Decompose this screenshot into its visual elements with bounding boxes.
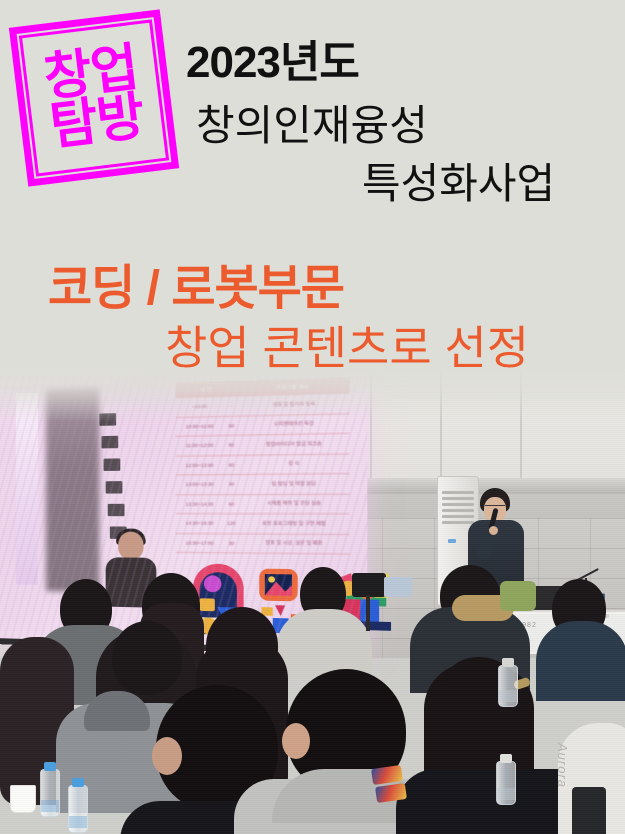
water-bottle [496,761,516,805]
chair-back [572,787,606,834]
header-text-block: 창업 탐방 2023년도 창의인재융성 특성화사업 코딩 / 로봇부문 창업 콘… [0,0,625,380]
audience-head [112,621,182,695]
heading-year: 2023년도 [186,26,359,90]
heading-project: 특성화사업 [362,150,555,211]
audience-shoulders [276,609,372,679]
subheading-category: 코딩 / 로봇부문 [48,248,344,318]
bottle-label [499,690,517,702]
event-photo: 시 간 프로그램 내용 ~10:00 - 개회 및 참가자 등록 10:00~1… [0,368,625,834]
audience-group: Aurora [0,573,625,834]
bottle-cap [44,762,56,771]
audience-shoulders [536,621,625,701]
heading-program: 창의인재융성 [196,92,428,153]
bottle-label [41,800,59,812]
water-bottle [68,785,88,833]
camera-body [352,573,386,597]
subheading-result: 창업 콘텐츠로 선정 [165,312,529,378]
stamp-badge: 창업 탐방 [9,9,179,186]
bottle-cap [500,754,512,763]
audience-scarf [500,581,536,611]
ac-brand-badge [448,539,456,543]
audience-ear [282,723,310,759]
jacket-brand-text: Aurora [555,743,570,788]
bottle-cap [502,658,514,667]
bottle-label [69,816,87,828]
bottle-cap [72,778,84,787]
poster-root: 시 간 프로그램 내용 ~10:00 - 개회 및 참가자 등록 10:00~1… [0,0,625,834]
water-bottle [40,769,60,817]
bottle-label [497,788,515,800]
paper-cup [10,785,36,813]
tripod-pole [366,595,370,631]
camera-screen [384,577,412,597]
stamp-line-2: 탐방 [48,92,147,152]
audience-ear [152,737,182,775]
speaker-hand [489,526,498,535]
water-bottle [498,665,518,707]
stamp-text: 창업 탐방 [9,9,179,186]
